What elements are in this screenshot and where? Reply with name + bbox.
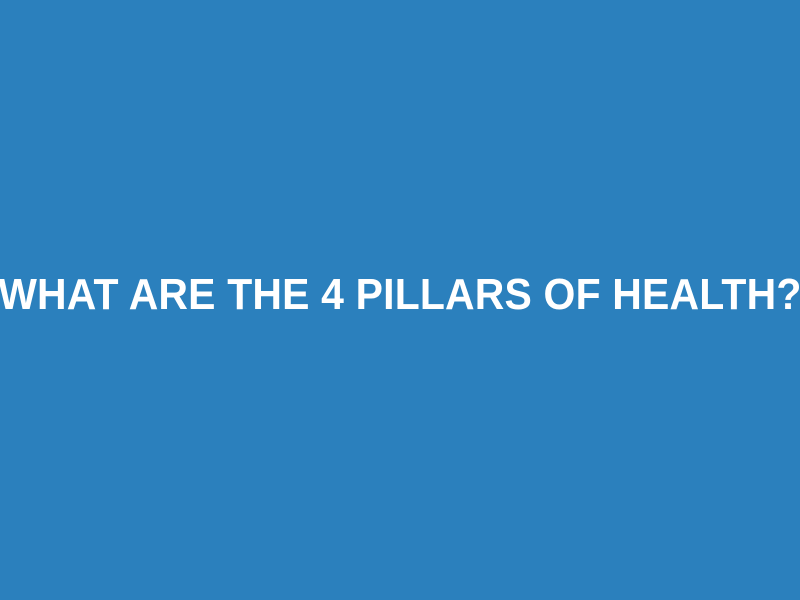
hero-content: What Are the 4 Pillars of Health?: [0, 271, 800, 319]
article-hero-card: What Are the 4 Pillars of Health?: [0, 0, 800, 600]
page-title: What Are the 4 Pillars of Health?: [0, 271, 800, 319]
